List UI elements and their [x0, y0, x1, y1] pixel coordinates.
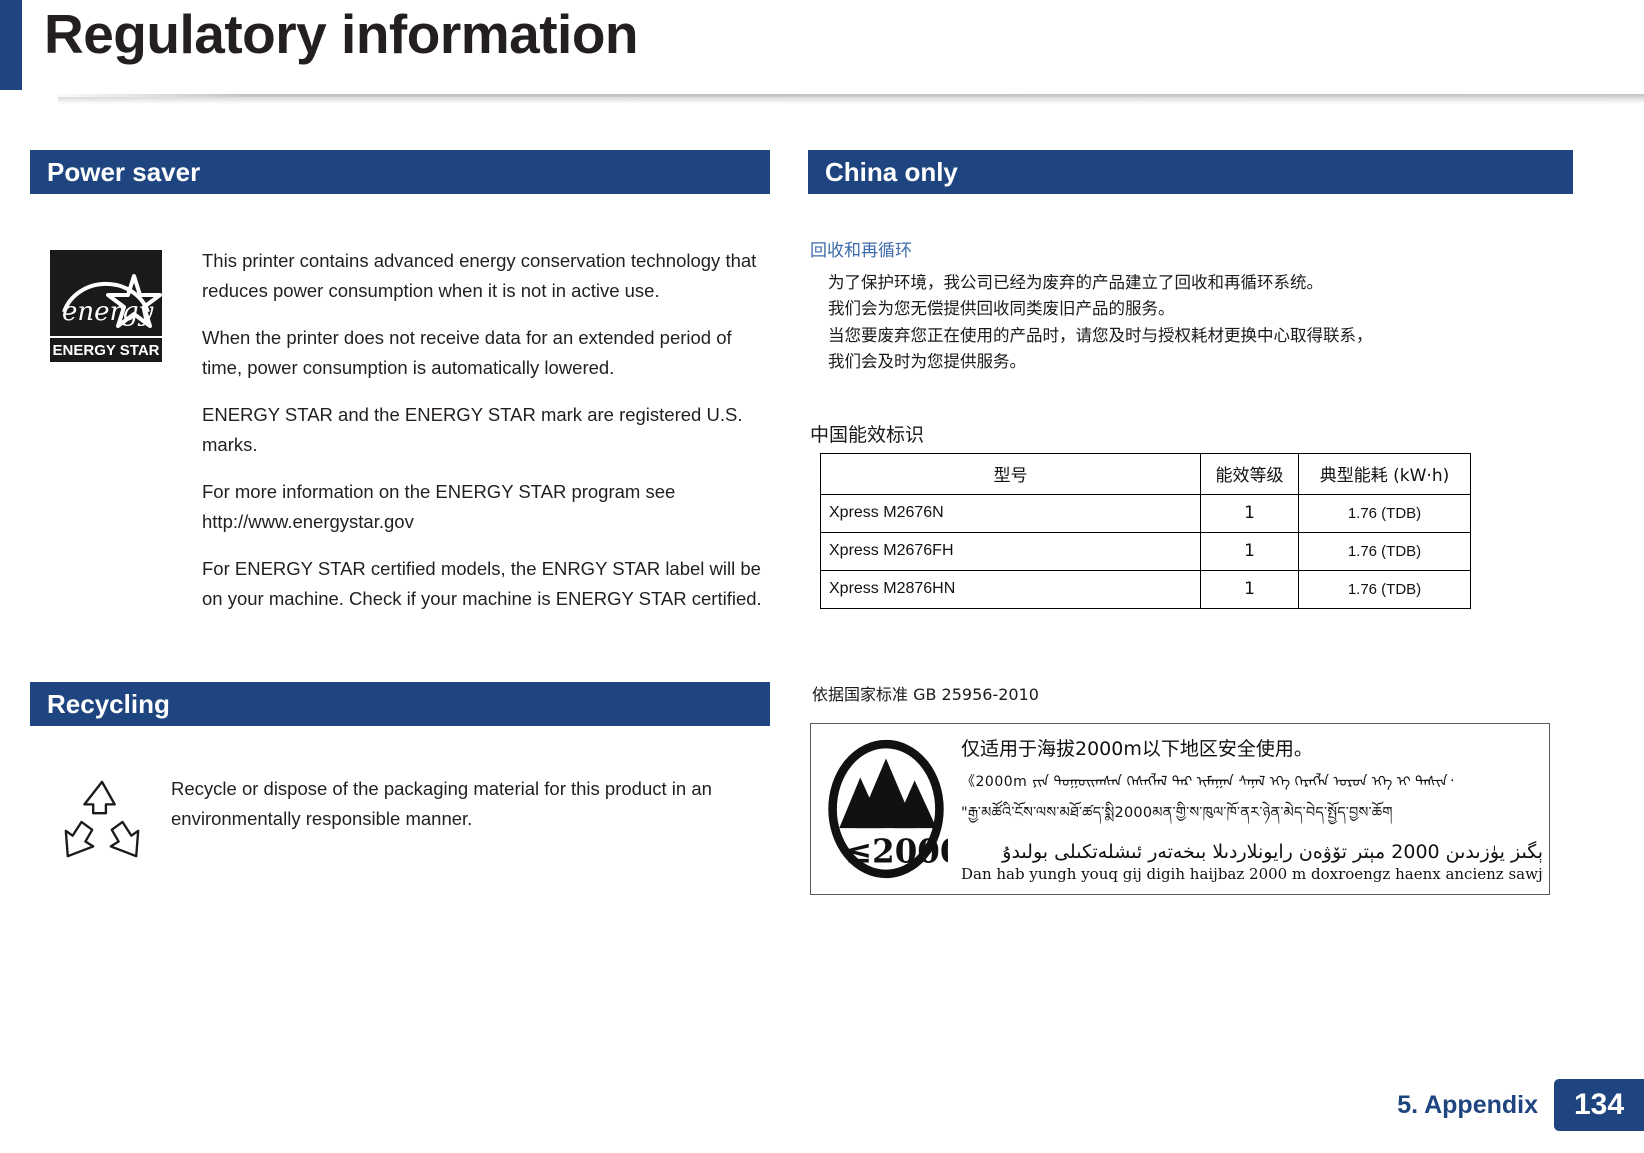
recycling-paragraph-1: Recycle or dispose of the packaging mate… — [171, 774, 770, 834]
left-column: Power saver energy ENERGY STAR This prin… — [30, 150, 770, 873]
cell-consumption: 1.76 (TDB) — [1299, 494, 1471, 532]
recycle-reuse-subheading: 回收和再循环 — [810, 236, 1573, 261]
altitude-limit-mountain-icon-svg: ≤2000m — [824, 737, 948, 881]
page-title: Regulatory information — [44, 2, 638, 66]
recycling-text: Recycle or dispose of the packaging mate… — [171, 774, 770, 834]
svg-text:ENERGY STAR: ENERGY STAR — [53, 342, 160, 359]
cell-grade: 1 — [1201, 532, 1299, 570]
cell-grade: 1 — [1201, 570, 1299, 608]
energy-efficiency-table: 型号 能效等级 典型能耗 (kW·h) Xpress M2676N 1 1.76… — [820, 453, 1471, 609]
recycle-reuse-line-1: 为了保护环境，我公司已经为废弃的产品建立了回收和再循环系统。 — [828, 270, 1573, 296]
altitude-line-mongolian: 《2000m ᠶᠢᠨ ᠳᠣᠭᠣᠢᠭᠰᠡᠨ ᠬᠡᠰᠡᠭᠯᠡᠯ ᠲᠡᠷ ᠢᠮᠠᠭᠠᠨ… — [961, 767, 1543, 791]
energy-star-logo: energy ENERGY STAR — [50, 250, 162, 367]
cell-model: Xpress M2876HN — [821, 570, 1201, 608]
power-saver-text: This printer contains advanced energy co… — [202, 246, 770, 614]
altitude-warning-box: ≤2000m 仅适用于海拔2000m以下地区安全使用。 《2000m ᠶᠢᠨ ᠳ… — [810, 723, 1550, 895]
power-saver-paragraph-1: This printer contains advanced energy co… — [202, 246, 770, 306]
recycling-body: Recycle or dispose of the packaging mate… — [30, 774, 770, 873]
power-saver-paragraph-2: When the printer does not receive data f… — [202, 323, 770, 383]
table-header-model: 型号 — [821, 453, 1201, 494]
recycle-reuse-paragraph: 为了保护环境，我公司已经为废弃的产品建立了回收和再循环系统。 我们会为您无偿提供… — [828, 270, 1573, 376]
power-saver-paragraph-3: ENERGY STAR and the ENERGY STAR mark are… — [202, 400, 770, 460]
table-row: Xpress M2876HN 1 1.76 (TDB) — [821, 570, 1471, 608]
section-power-saver: Power saver energy ENERGY STAR This prin… — [30, 150, 770, 614]
cell-grade: 1 — [1201, 494, 1299, 532]
table-header-consumption: 典型能耗 (kW·h) — [1299, 453, 1471, 494]
table-row: Xpress M2676FH 1 1.76 (TDB) — [821, 532, 1471, 570]
power-saver-body: energy ENERGY STAR This printer contains… — [30, 246, 770, 614]
cell-consumption: 1.76 (TDB) — [1299, 532, 1471, 570]
energy-label-title: 中国能效标识 — [810, 420, 1573, 447]
svg-text:≤2000m: ≤2000m — [845, 832, 948, 870]
power-saver-paragraph-5: For ENERGY STAR certified models, the EN… — [202, 554, 770, 614]
footer-page-number: 134 — [1554, 1079, 1644, 1131]
table-row: Xpress M2676N 1 1.76 (TDB) — [821, 494, 1471, 532]
section-recycling: Recycling Recycle or dispose of the pack… — [30, 682, 770, 873]
page-header: Regulatory information — [0, 0, 1644, 110]
section-heading-china-only: China only — [808, 150, 1573, 194]
svg-text:energy: energy — [62, 297, 154, 327]
altitude-line-zhuang: Dan hab yungh youq gij digih haijbaz 200… — [961, 865, 1543, 883]
recycle-reuse-line-3: 当您要废弃您正在使用的产品时，请您及时与授权耗材更换中心取得联系， — [828, 323, 1573, 349]
altitude-limit-mountain-icon: ≤2000m — [811, 724, 961, 894]
altitude-warning-lines: 仅适用于海拔2000m以下地区安全使用。 《2000m ᠶᠢᠨ ᠳᠣᠭᠣᠢᠭᠰᠡ… — [961, 734, 1549, 883]
recycling-icon — [58, 774, 146, 873]
table-header-row: 型号 能效等级 典型能耗 (kW·h) — [821, 453, 1471, 494]
footer-chapter-label: 5. Appendix — [1397, 1091, 1538, 1120]
recycle-reuse-line-4: 我们会及时为您提供服务。 — [828, 349, 1573, 375]
right-column: China only 回收和再循环 为了保护环境，我公司已经为废弃的产品建立了回… — [808, 150, 1573, 895]
cell-consumption: 1.76 (TDB) — [1299, 570, 1471, 608]
energy-star-logo-svg: energy ENERGY STAR — [50, 250, 162, 362]
altitude-line-uyghur: ېگىز يۈزىدىن 2000 مېتر تۆۋەن رايونلاردىل… — [961, 841, 1543, 863]
section-heading-power-saver: Power saver — [30, 150, 770, 194]
header-accent-bar — [0, 0, 22, 90]
cell-model: Xpress M2676N — [821, 494, 1201, 532]
altitude-line-tibetan: "རྒྱ་མཚོའི་ངོས་ལས་མཐོ་ཚད་སྨི2000མན་གྱི་ས… — [961, 796, 1543, 837]
section-heading-recycling: Recycling — [30, 682, 770, 726]
table-header-grade: 能效等级 — [1201, 453, 1299, 494]
altitude-line-chinese: 仅适用于海拔2000m以下地区安全使用。 — [961, 734, 1543, 761]
gb-standard-reference: 依据国家标准 GB 25956-2010 — [812, 681, 1573, 705]
recycling-icon-svg — [58, 774, 146, 868]
header-divider-shadow — [58, 94, 1644, 104]
page-footer: 5. Appendix 134 — [1397, 1079, 1644, 1131]
recycle-reuse-line-2: 我们会为您无偿提供回收同类废旧产品的服务。 — [828, 296, 1573, 322]
cell-model: Xpress M2676FH — [821, 532, 1201, 570]
power-saver-paragraph-4: For more information on the ENERGY STAR … — [202, 477, 770, 537]
